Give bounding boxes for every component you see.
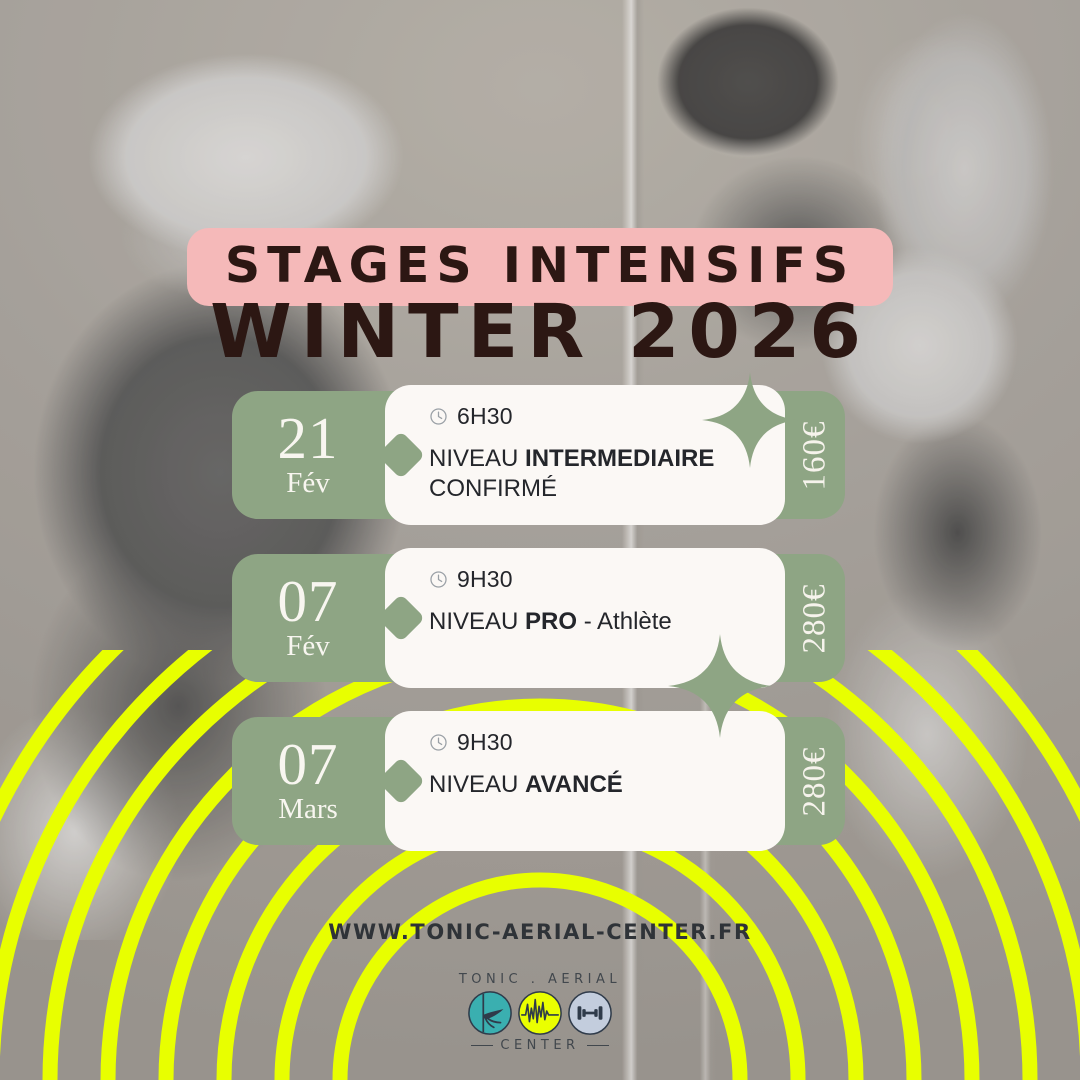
event-time: 9H30 <box>457 566 513 593</box>
heartbeat-icon <box>517 990 563 1036</box>
ticket-notch <box>377 594 425 642</box>
event-price: 280€ <box>785 554 845 682</box>
ticket-notch <box>377 757 425 805</box>
clock-icon <box>429 407 448 426</box>
logo-bottom-row: CENTER <box>471 1038 608 1053</box>
event-level-prefix: NIVEAU <box>429 771 525 798</box>
event-price: 280€ <box>785 717 845 845</box>
event-month: Fév <box>286 631 330 663</box>
clock-icon <box>429 570 448 589</box>
ticket-notch <box>377 431 425 479</box>
event-time: 9H30 <box>457 729 513 756</box>
event-level-strong: INTERMEDIAIRE <box>525 445 714 472</box>
title-block: STAGES INTENSIFS WINTER 2026 <box>0 228 1080 371</box>
brand-logo: TONIC . AERIAL <box>0 972 1080 1053</box>
event-level-prefix: NIVEAU <box>429 445 525 472</box>
aerial-pose-icon <box>467 990 513 1036</box>
event-day: 07 <box>278 736 339 792</box>
event-time-row: 9H30 <box>429 566 767 593</box>
event-price-text: 280€ <box>797 583 834 653</box>
logo-bottom-text: CENTER <box>500 1038 579 1053</box>
event-date: 07 Mars <box>232 717 384 845</box>
dumbbell-icon <box>567 990 613 1036</box>
clock-icon <box>429 733 448 752</box>
event-month: Fév <box>286 468 330 500</box>
poster-canvas: STAGES INTENSIFS WINTER 2026 21 Fév 6H30… <box>0 0 1080 1080</box>
event-level-strong: AVANCÉ <box>525 771 623 798</box>
event-level-strong: PRO <box>525 608 577 635</box>
website-url[interactable]: WWW.TONIC-AERIAL-CENTER.FR <box>0 920 1080 944</box>
logo-rule-right <box>587 1045 609 1047</box>
event-level: NIVEAU PRO - Athlète <box>429 607 767 637</box>
event-month: Mars <box>278 794 338 826</box>
event-day: 07 <box>278 573 339 629</box>
logo-rule-left <box>471 1045 493 1047</box>
sparkle-icon <box>702 372 798 468</box>
event-level-suffix: - Athlète <box>577 608 672 635</box>
event-day: 21 <box>278 410 339 466</box>
logo-top-text: TONIC . AERIAL <box>459 972 621 987</box>
sparkle-icon <box>668 634 772 738</box>
title-main-text: WINTER 2026 <box>0 294 1080 371</box>
event-level-prefix: NIVEAU <box>429 608 525 635</box>
event-date: 21 Fév <box>232 391 384 519</box>
event-time: 6H30 <box>457 403 513 430</box>
event-level-line2: CONFIRMÉ <box>429 475 557 502</box>
event-price-text: 280€ <box>797 746 834 816</box>
title-banner-text: STAGES INTENSIFS <box>225 237 855 294</box>
event-date: 07 Fév <box>232 554 384 682</box>
event-level: NIVEAU AVANCÉ <box>429 770 767 800</box>
event-price-text: 160€ <box>797 420 834 490</box>
logo-icon-row <box>467 990 613 1036</box>
